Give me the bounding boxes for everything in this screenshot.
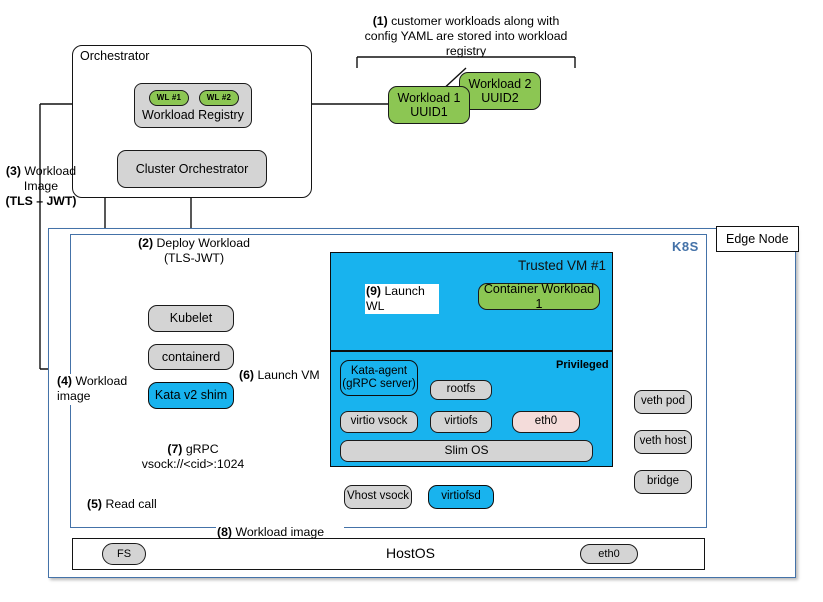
annotation-step-3: (3) Workload Image (TLS – JWT) bbox=[2, 164, 80, 209]
annotation-step-5-num: (5) bbox=[87, 497, 102, 511]
rootfs-box[interactable]: rootfs bbox=[430, 380, 492, 400]
annotation-step-7: (7) gRPC vsock://<cid>:1024 bbox=[124, 442, 262, 472]
annotation-step-4-line2: image bbox=[57, 389, 91, 403]
annotation-step-1-num: (1) bbox=[373, 14, 388, 28]
annotation-step-9-num: (9) bbox=[366, 284, 381, 298]
kata-agent-line2: (gRPC server) bbox=[342, 378, 415, 391]
annotation-step-3-text: Workload bbox=[21, 164, 76, 178]
workload-2-name: Workload 2 bbox=[469, 77, 532, 91]
workload-badge-2: WL #2 bbox=[199, 90, 239, 106]
workload-2-uuid: UUID2 bbox=[481, 91, 519, 105]
vhost-vsock-box[interactable]: Vhost vsock bbox=[344, 485, 412, 509]
annotation-step-6: (6) Launch VM bbox=[238, 368, 332, 383]
annotation-step-3-line2: Image bbox=[24, 179, 58, 193]
veth-pod-box[interactable]: veth pod bbox=[634, 390, 692, 414]
annotation-step-2-num: (2) bbox=[138, 236, 153, 250]
annotation-step-5-text: Read call bbox=[102, 497, 157, 511]
kata-agent-line1: Kata-agent bbox=[351, 365, 407, 378]
container-workload-1-box[interactable]: Container Workload 1 bbox=[478, 283, 600, 310]
annotation-step-4-text: Workload bbox=[72, 374, 127, 388]
trusted-vm-title: Trusted VM #1 bbox=[518, 258, 606, 273]
annotation-step-9: (9) Launch WL bbox=[365, 284, 439, 314]
virtio-vsock-box[interactable]: virtio vsock bbox=[340, 411, 418, 433]
annotation-step-8-num: (8) bbox=[217, 525, 232, 539]
annotation-step-5: (5) Read call bbox=[86, 497, 184, 512]
workload-1-name: Workload 1 bbox=[398, 91, 461, 105]
edge-node-tag: Edge Node bbox=[716, 226, 799, 252]
annotation-step-7-text: gRPC bbox=[182, 442, 218, 456]
workload-registry-caption: Workload Registry bbox=[135, 108, 251, 122]
annotation-step-2-text: Deploy Workload bbox=[153, 236, 250, 250]
annotation-step-7-sub: vsock://<cid>:1024 bbox=[142, 457, 245, 471]
workload-badge-1: WL #1 bbox=[149, 90, 189, 106]
annotation-step-3-line3: (TLS – JWT) bbox=[5, 194, 76, 208]
annotation-step-6-num: (6) bbox=[239, 368, 254, 382]
annotation-step-4-num: (4) bbox=[57, 374, 72, 388]
fs-box[interactable]: FS bbox=[102, 543, 146, 565]
workload-1-box[interactable]: Workload 1 UUID1 bbox=[388, 86, 470, 124]
k8s-tag: K8S bbox=[672, 239, 699, 254]
virtiofs-box[interactable]: virtiofs bbox=[430, 411, 492, 433]
workload-2-box[interactable]: Workload 2 UUID2 bbox=[459, 72, 541, 110]
kubelet-box[interactable]: Kubelet bbox=[148, 305, 234, 332]
diagram-canvas: Orchestrator WL #1 WL #2 Workload Regist… bbox=[0, 0, 823, 602]
host-eth0-box[interactable]: eth0 bbox=[580, 544, 638, 564]
bridge-box[interactable]: bridge bbox=[634, 470, 692, 494]
workload-1-uuid: UUID1 bbox=[410, 105, 448, 119]
privileged-label: Privileged bbox=[556, 359, 609, 371]
kata-v2-shim-box[interactable]: Kata v2 shim bbox=[148, 382, 234, 409]
hostos-label: HostOS bbox=[386, 545, 435, 561]
annotation-step-1-text: customer workloads along with config YAM… bbox=[365, 14, 568, 58]
virtiofsd-box[interactable]: virtiofsd bbox=[428, 485, 494, 509]
slim-os-box[interactable]: Slim OS bbox=[340, 440, 593, 462]
privileged-divider bbox=[330, 350, 613, 352]
containerd-box[interactable]: containerd bbox=[148, 344, 234, 370]
annotation-step-3-num: (3) bbox=[6, 164, 21, 178]
annotation-step-4: (4) Workload image bbox=[56, 374, 130, 405]
annotation-step-6-text: Launch VM bbox=[254, 368, 320, 382]
orchestrator-title: Orchestrator bbox=[80, 49, 149, 63]
annotation-step-7-num: (7) bbox=[167, 442, 182, 456]
vm-eth0-box[interactable]: eth0 bbox=[512, 411, 580, 433]
veth-host-box[interactable]: veth host bbox=[634, 430, 692, 454]
annotation-step-8-text: Workload image bbox=[232, 525, 324, 539]
cluster-orchestrator[interactable]: Cluster Orchestrator bbox=[117, 150, 267, 188]
kata-agent-box[interactable]: Kata-agent (gRPC server) bbox=[340, 360, 418, 396]
annotation-step-2-sub: (TLS-JWT) bbox=[164, 251, 224, 265]
annotation-step-1: (1) customer workloads along with config… bbox=[356, 14, 576, 59]
workload-registry[interactable]: WL #1 WL #2 Workload Registry bbox=[134, 83, 252, 128]
annotation-step-2: (2) Deploy Workload (TLS-JWT) bbox=[126, 236, 262, 266]
